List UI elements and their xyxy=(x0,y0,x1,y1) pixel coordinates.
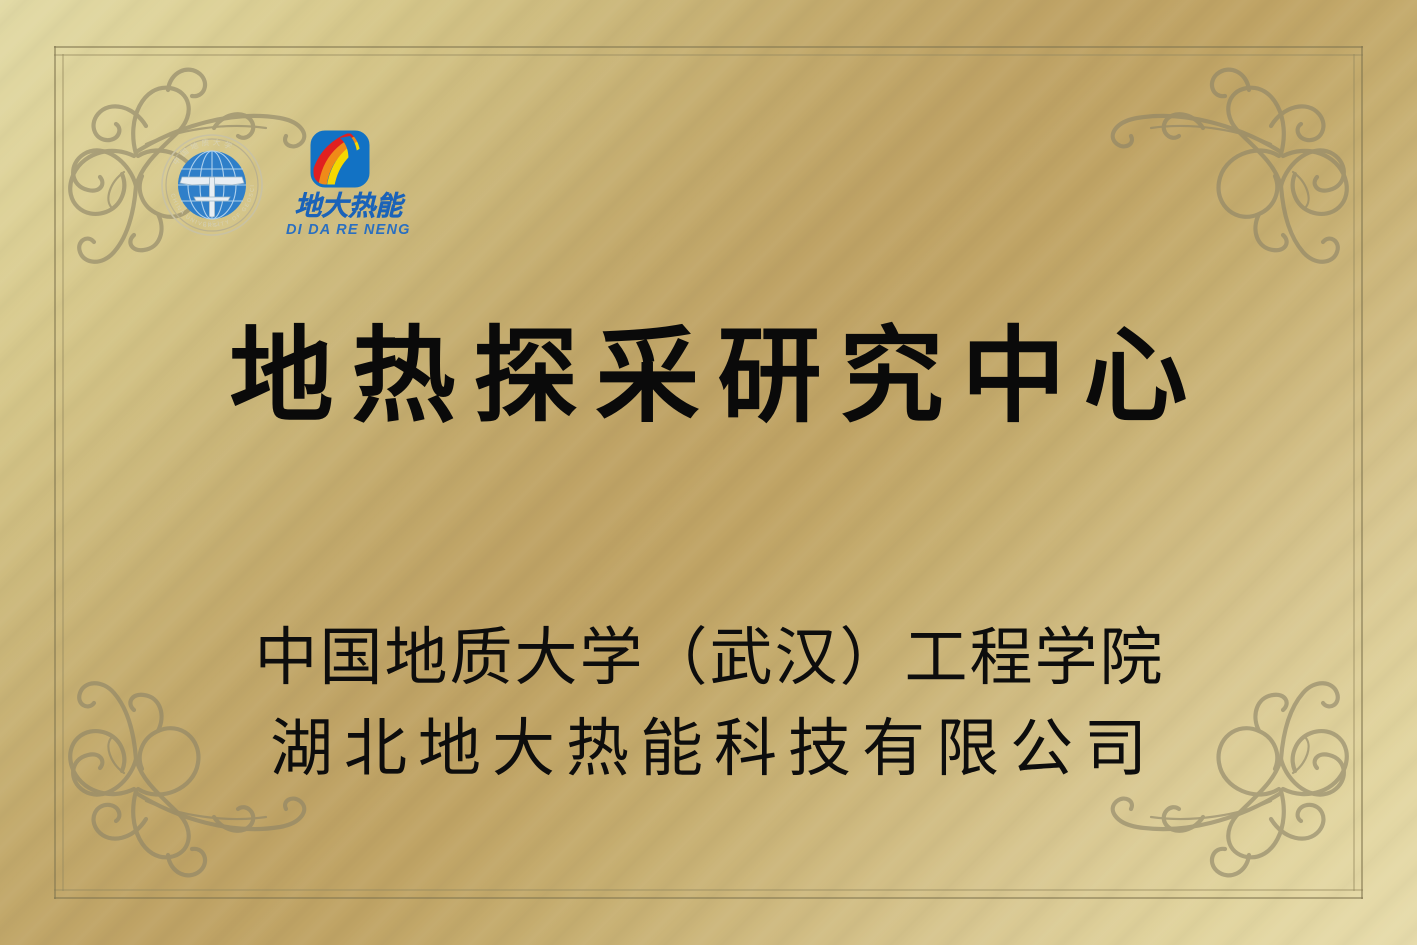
subtitle-line-2: 湖北地大热能科技有限公司 xyxy=(0,703,1417,794)
didareneng-chinese-label: 地大热能 xyxy=(294,193,402,220)
corner-ornament-top-right xyxy=(1099,14,1399,264)
frame-rule-top-outer xyxy=(54,46,1363,48)
subtitle-line-1: 中国地质大学（武汉）工程学院 xyxy=(0,612,1417,703)
frame-rule-bottom-outer xyxy=(54,897,1363,899)
logo-row: 中国地质大学 CHINA UNIVERSITY OF GEOSCIENCES 1… xyxy=(160,130,411,239)
frame-rule-bottom-inner xyxy=(54,889,1363,891)
plaque-subtitle: 中国地质大学（武汉）工程学院 湖北地大热能科技有限公司 xyxy=(0,612,1417,795)
didareneng-logo: 地大热能 DI DA RE NENG xyxy=(286,130,411,239)
award-plaque: 中国地质大学 CHINA UNIVERSITY OF GEOSCIENCES 1… xyxy=(0,0,1417,945)
svg-text:1952: 1952 xyxy=(204,221,221,228)
didareneng-english-label: DI DA RE NENG xyxy=(286,221,411,239)
plaque-title: 地热探采研究中心 xyxy=(0,322,1417,431)
didareneng-mark-icon xyxy=(310,130,374,192)
frame-rule-top-inner xyxy=(54,54,1363,56)
cug-emblem-icon: 中国地质大学 CHINA UNIVERSITY OF GEOSCIENCES 1… xyxy=(160,133,264,237)
